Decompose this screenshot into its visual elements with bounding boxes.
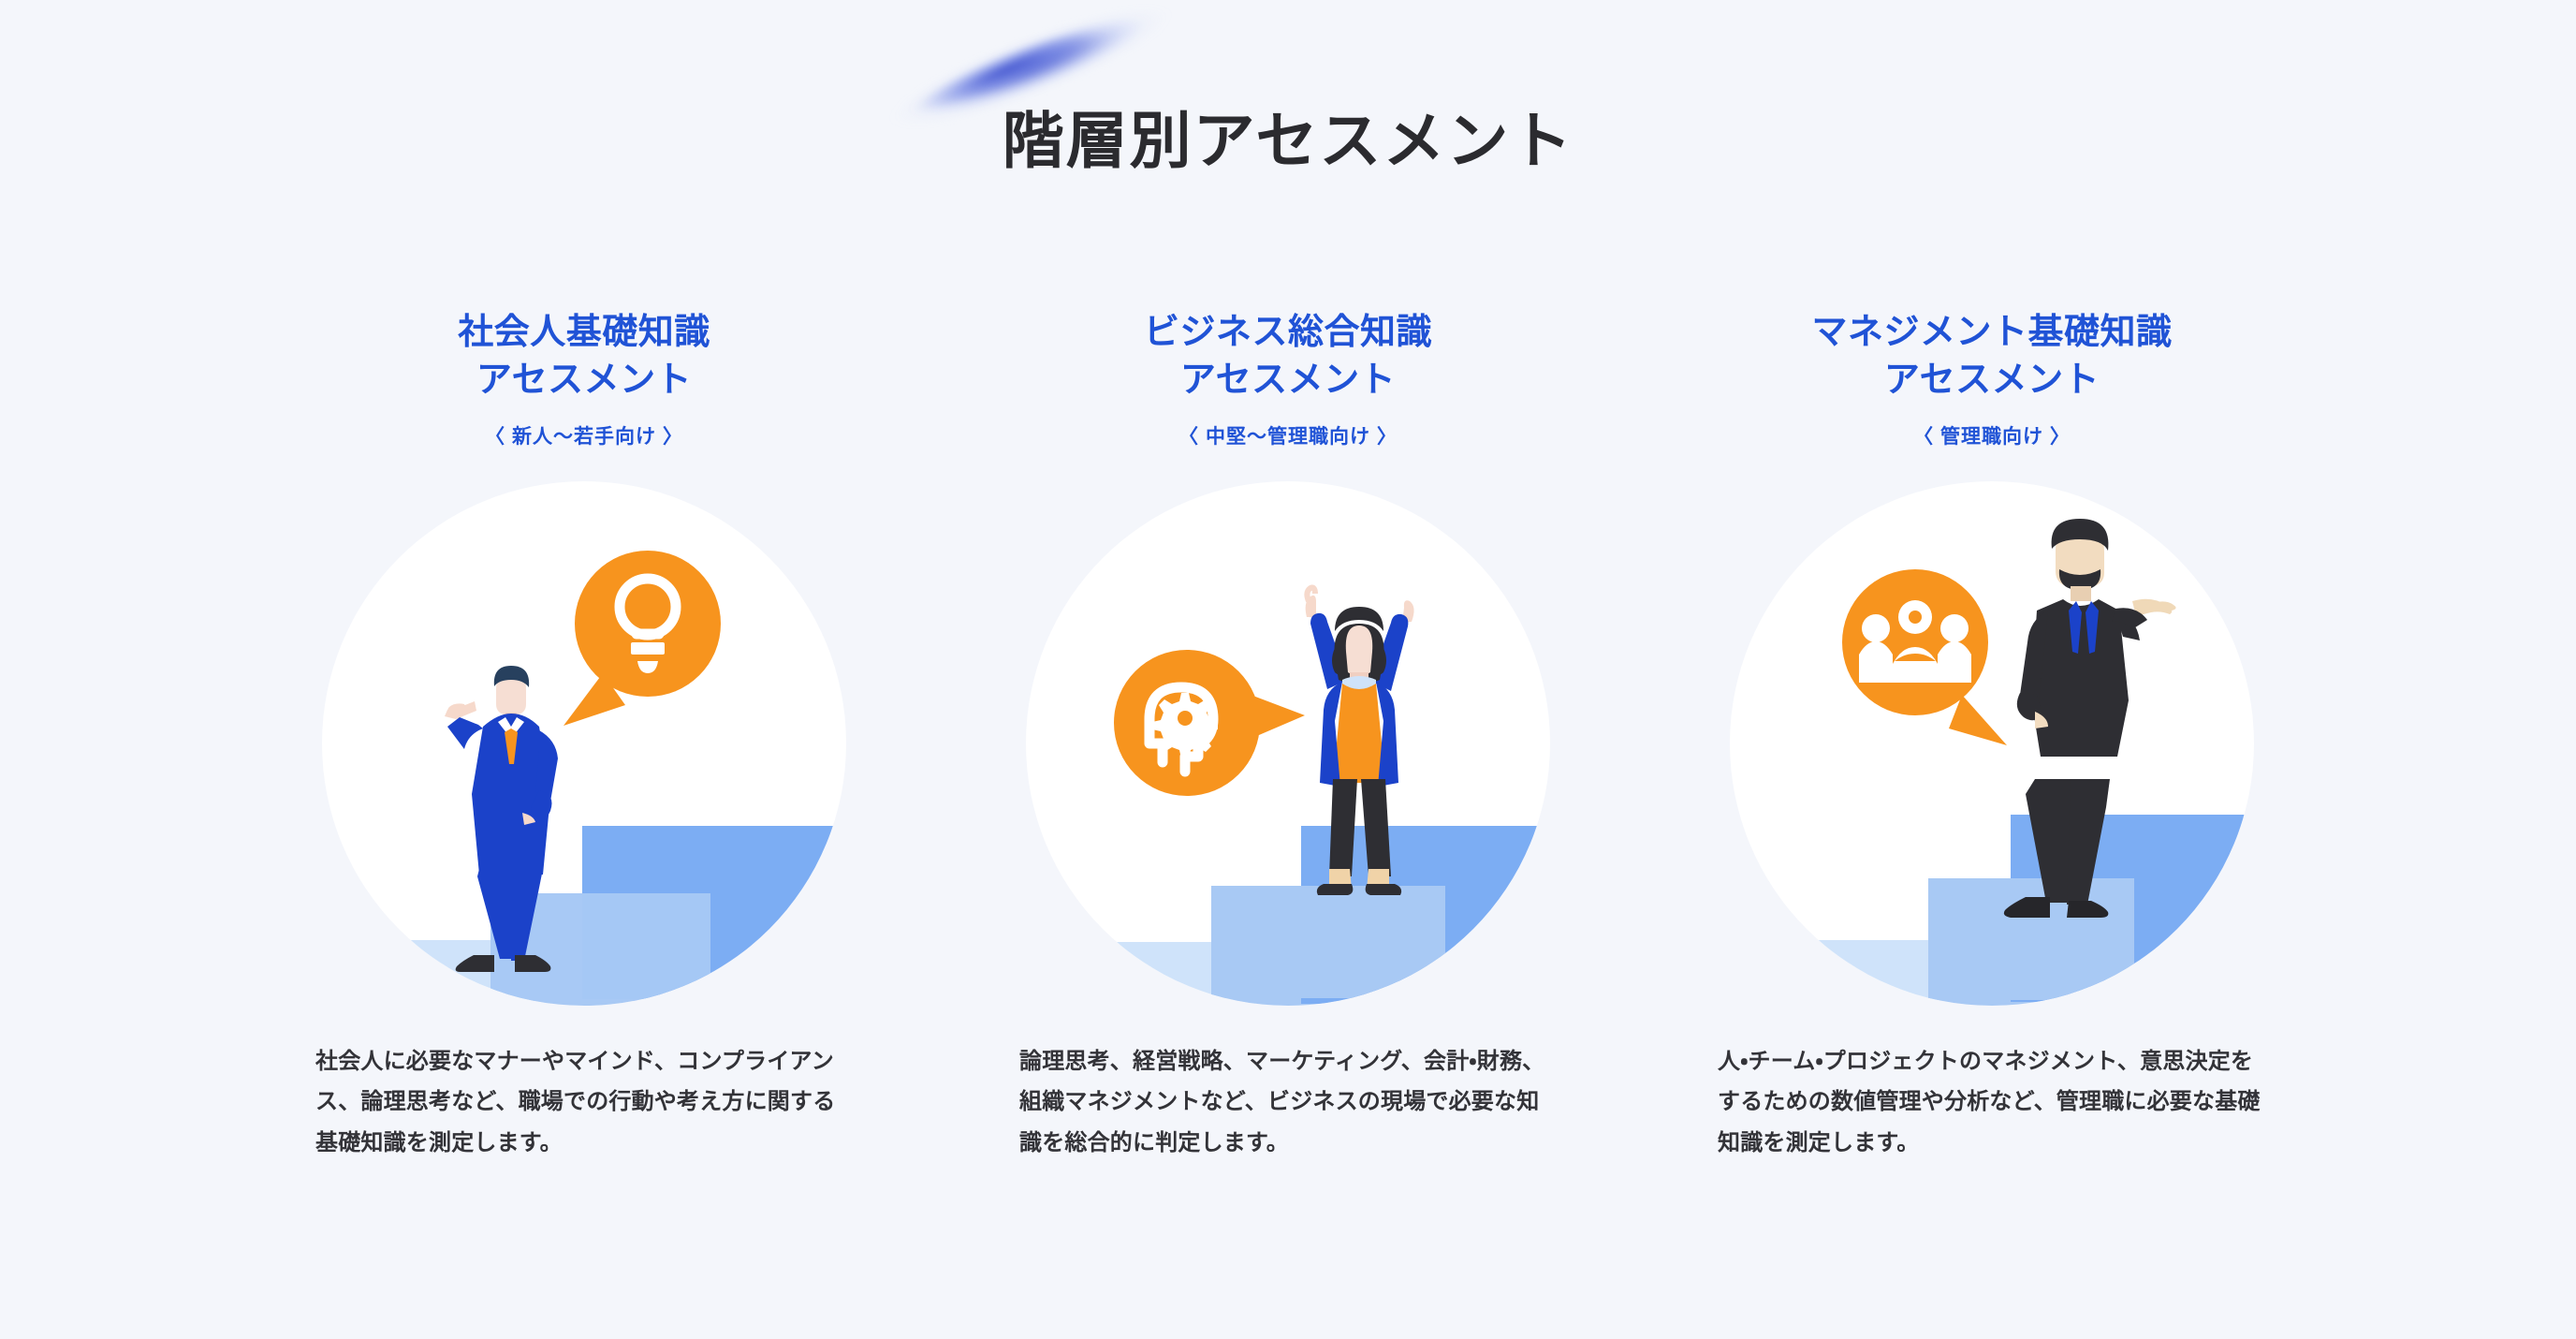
- card-description: 人・チーム・プロジェクトのマネジメント、意思決定をするための数値管理や分析など、…: [1718, 1041, 2266, 1164]
- card-heading: 社会人基礎知識 アセスメント: [458, 309, 710, 405]
- bubble-circle: [575, 551, 721, 697]
- card-description: 論理思考、経営戦略、マーケティング、会計・財務、組織マネジメントなど、ビジネスの…: [1019, 1041, 1557, 1164]
- page-header: 階層別アセスメント: [0, 0, 2576, 281]
- assessment-card-business: ビジネス総合知識 アセスメント 〈 中堅〜管理職向け 〉: [991, 309, 1585, 1186]
- card-subtitle: 〈 中堅〜管理職向け 〉: [1178, 421, 1398, 449]
- assessment-card-basic: 社会人基礎知識 アセスメント 〈 新人〜若手向け 〉: [287, 309, 881, 1186]
- assessment-columns: 社会人基礎知識 アセスメント 〈 新人〜若手向け 〉: [0, 309, 2576, 1186]
- card-description: 社会人に必要なマナーやマインド、コンプライアンス、論理思考など、職場での行動や考…: [315, 1041, 853, 1164]
- card-heading: マネジメント基礎知識 アセスメント: [1811, 309, 2172, 405]
- illustration-basic: [322, 481, 846, 1006]
- card-subtitle: 〈 管理職向け 〉: [1913, 421, 2071, 449]
- illustration-management: [1730, 481, 2254, 1006]
- illustration-business: [1026, 481, 1550, 1006]
- assessment-card-management: マネジメント基礎知識 アセスメント 〈 管理職向け 〉: [1695, 309, 2289, 1186]
- step-1: [1758, 940, 1936, 1006]
- brush-stroke-accent-core: [911, 6, 1122, 121]
- bubble-circle: [1842, 569, 1988, 715]
- card-heading: ビジネス総合知識 アセスメント: [1144, 309, 1432, 405]
- page-title: 階層別アセスメント: [1003, 110, 1574, 171]
- card-subtitle: 〈 新人〜若手向け 〉: [485, 421, 683, 449]
